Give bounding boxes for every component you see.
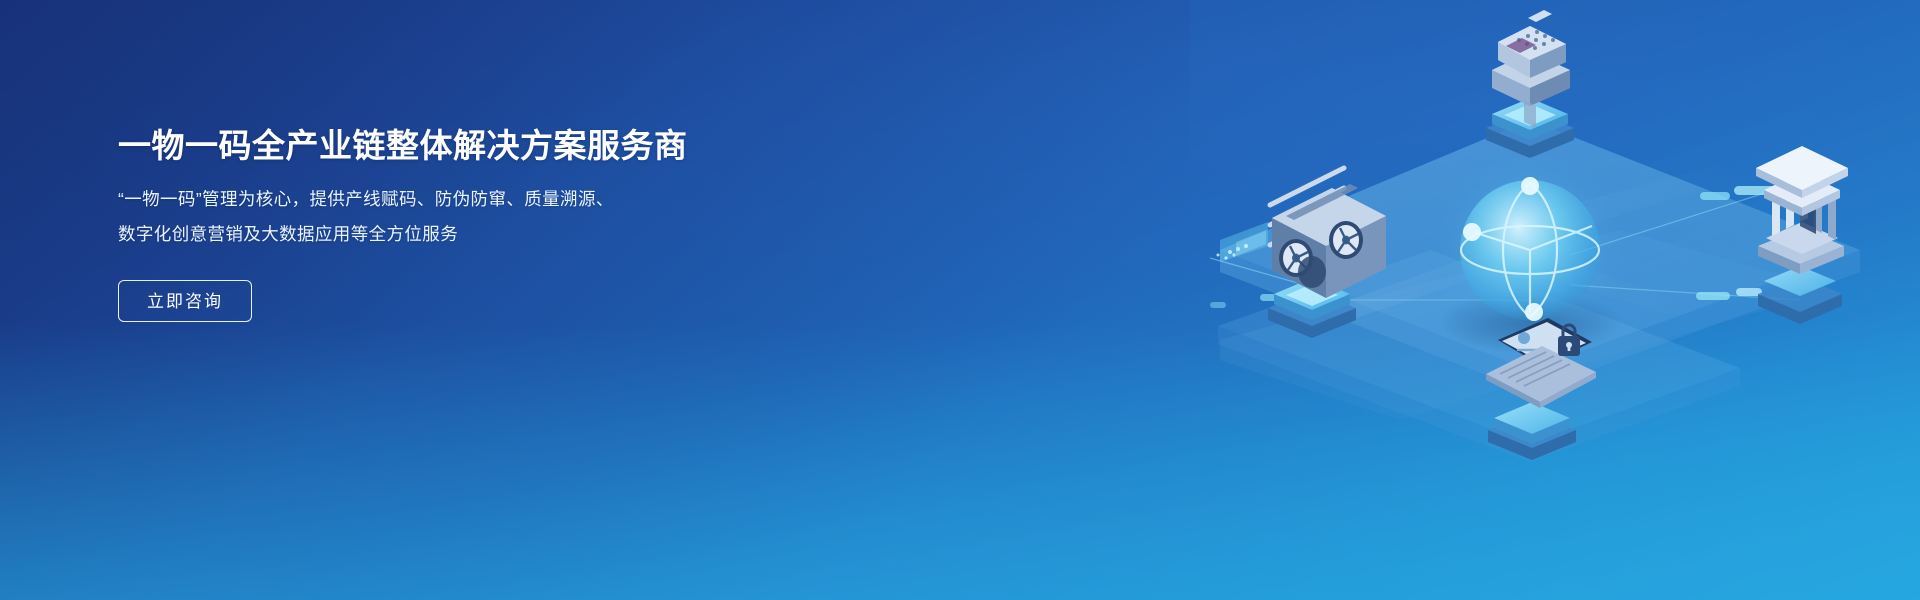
- hero-subtitle-line-2: 数字化创意营销及大数据应用等全方位服务: [118, 217, 758, 252]
- background-wash-bottom: [0, 324, 1920, 600]
- server-rack-fans: [1217, 168, 1387, 298]
- hero-banner: 一物一码全产业链整体解决方案服务商 “一物一码”管理为核心，提供产线赋码、防伪防…: [0, 0, 1920, 600]
- light-beams: [1350, 165, 1740, 338]
- pos-terminal: [1492, 10, 1570, 128]
- consult-now-button[interactable]: 立即咨询: [118, 280, 252, 322]
- hero-subtitle-line-1: “一物一码”管理为核心，提供产线赋码、防伪防窜、质量溯源、: [118, 182, 758, 217]
- hero-content: 一物一码全产业链整体解决方案服务商 “一物一码”管理为核心，提供产线赋码、防伪防…: [118, 125, 758, 322]
- lock-icon: [1556, 325, 1590, 356]
- isometric-platform-group: [1218, 120, 1860, 462]
- bank-building: [1756, 146, 1848, 324]
- page-title: 一物一码全产业链整体解决方案服务商: [118, 125, 758, 166]
- node-pad-left: [1268, 278, 1356, 338]
- central-network-sphere: [1432, 152, 1628, 354]
- data-flow-lines: [1210, 185, 1800, 308]
- hero-subtitle: “一物一码”管理为核心，提供产线赋码、防伪防窜、质量溯源、 数字化创意营销及大数…: [118, 182, 758, 252]
- scanner-beam: [1217, 222, 1269, 262]
- hero-illustration: [1100, 0, 1920, 600]
- laptop-security: [1486, 318, 1596, 460]
- node-pad-top: [1486, 98, 1574, 158]
